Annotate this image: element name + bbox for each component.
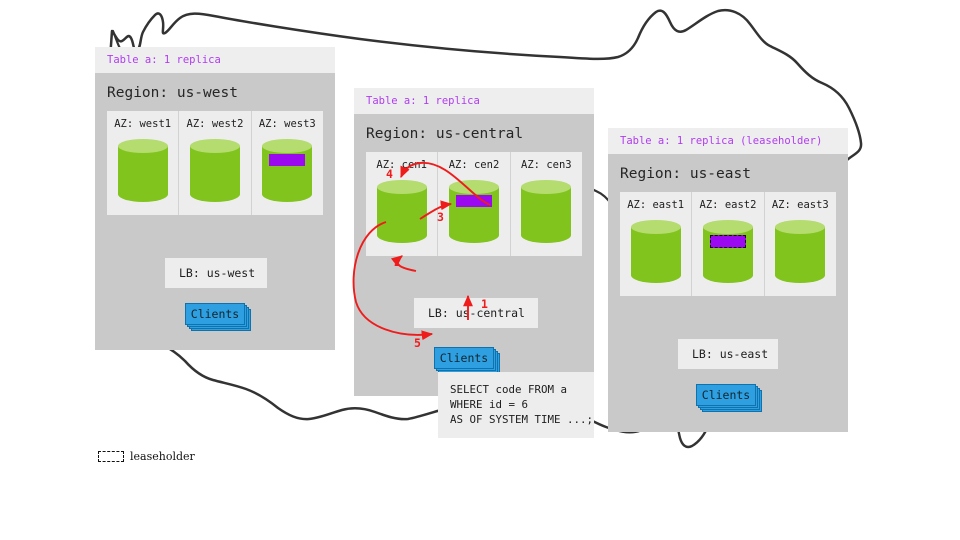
region-header-us-central: Table a: 1 replica — [354, 88, 594, 114]
az-row-us-east: AZ: east1 AZ: east2 AZ: east3 — [620, 192, 836, 296]
az-label: AZ: cen1 — [366, 159, 437, 171]
az-cell-cen1[interactable]: AZ: cen1 — [366, 152, 438, 256]
clients-stack-us-central[interactable]: Clients — [434, 347, 500, 375]
arrow-number-4: 4 — [386, 167, 393, 181]
az-cell-east1[interactable]: AZ: east1 — [620, 192, 692, 296]
arrow-number-5: 5 — [414, 336, 421, 350]
arrow-number-3: 3 — [437, 210, 444, 224]
sql-query-note: SELECT code FROM a WHERE id = 6 AS OF SY… — [438, 372, 594, 438]
arrow-number-2: 2 — [394, 255, 401, 269]
legend-label: leaseholder — [130, 450, 195, 463]
az-label: AZ: west1 — [107, 118, 178, 130]
az-cell-west1[interactable]: AZ: west1 — [107, 111, 179, 215]
region-header-us-east: Table a: 1 replica (leaseholder) — [608, 128, 848, 154]
clients-stack-us-east[interactable]: Clients — [696, 384, 762, 412]
region-header-us-west: Table a: 1 replica — [95, 47, 335, 73]
dashed-rect-swatch-icon — [98, 451, 124, 462]
az-row-us-central: AZ: cen1 AZ: cen2 AZ: cen3 — [366, 152, 582, 256]
arrow-number-1: 1 — [481, 297, 488, 311]
cylinder-body — [190, 146, 240, 202]
region-panel-us-west: Table a: 1 replica Region: us-west AZ: w… — [95, 47, 335, 350]
cylinder-top — [521, 180, 571, 194]
cylinder-top — [703, 220, 753, 234]
replica-block-west3[interactable] — [269, 154, 305, 166]
az-cell-cen2[interactable]: AZ: cen2 — [438, 152, 510, 256]
az-cell-east2[interactable]: AZ: east2 — [692, 192, 764, 296]
cylinder-body — [377, 187, 427, 243]
az-label: AZ: east3 — [765, 199, 836, 211]
region-title-us-central: Region: us-central — [354, 114, 594, 152]
cylinder-top — [118, 139, 168, 153]
az-cell-east3[interactable]: AZ: east3 — [765, 192, 836, 296]
az-cell-west3[interactable]: AZ: west3 — [252, 111, 323, 215]
clients-label[interactable]: Clients — [696, 384, 756, 406]
cylinder-top — [262, 139, 312, 153]
region-panel-us-central: Table a: 1 replica Region: us-central AZ… — [354, 88, 594, 396]
az-label: AZ: west3 — [252, 118, 323, 130]
replica-block-cen2[interactable] — [456, 195, 492, 207]
load-balancer-us-central[interactable]: LB: us-central — [414, 298, 538, 328]
cylinder-top — [775, 220, 825, 234]
az-label: AZ: cen2 — [438, 159, 509, 171]
region-panel-us-east: Table a: 1 replica (leaseholder) Region:… — [608, 128, 848, 432]
az-row-us-west: AZ: west1 AZ: west2 AZ: west3 — [107, 111, 323, 215]
az-label: AZ: east1 — [620, 199, 691, 211]
cylinder-top — [377, 180, 427, 194]
clients-label[interactable]: Clients — [185, 303, 245, 325]
az-cell-cen3[interactable]: AZ: cen3 — [511, 152, 582, 256]
cylinder-body — [775, 227, 825, 283]
cylinder-top — [449, 180, 499, 194]
node-cylinder-east1[interactable] — [631, 220, 681, 283]
node-cylinder-cen1[interactable] — [377, 180, 427, 243]
clients-label[interactable]: Clients — [434, 347, 494, 369]
az-cell-west2[interactable]: AZ: west2 — [179, 111, 251, 215]
region-title-us-west: Region: us-west — [95, 73, 335, 111]
node-cylinder-west2[interactable] — [190, 139, 240, 202]
node-cylinder-west1[interactable] — [118, 139, 168, 202]
node-cylinder-west3[interactable] — [262, 139, 312, 202]
az-label: AZ: east2 — [692, 199, 763, 211]
node-cylinder-east3[interactable] — [775, 220, 825, 283]
node-cylinder-east2[interactable] — [703, 220, 753, 283]
az-label: AZ: cen3 — [511, 159, 582, 171]
clients-stack-us-west[interactable]: Clients — [185, 303, 251, 331]
diagram-canvas: 1 2 3 4 5 Table a: 1 replica Region: us-… — [0, 0, 960, 540]
region-title-us-east: Region: us-east — [608, 154, 848, 192]
load-balancer-us-east[interactable]: LB: us-east — [678, 339, 778, 369]
cylinder-body — [631, 227, 681, 283]
cylinder-body — [521, 187, 571, 243]
node-cylinder-cen3[interactable] — [521, 180, 571, 243]
cylinder-body — [118, 146, 168, 202]
load-balancer-us-west[interactable]: LB: us-west — [165, 258, 267, 288]
cylinder-top — [190, 139, 240, 153]
replica-block-east2-leaseholder[interactable] — [710, 235, 746, 248]
node-cylinder-cen2[interactable] — [449, 180, 499, 243]
legend-leaseholder: leaseholder — [98, 450, 195, 463]
cylinder-top — [631, 220, 681, 234]
az-label: AZ: west2 — [179, 118, 250, 130]
